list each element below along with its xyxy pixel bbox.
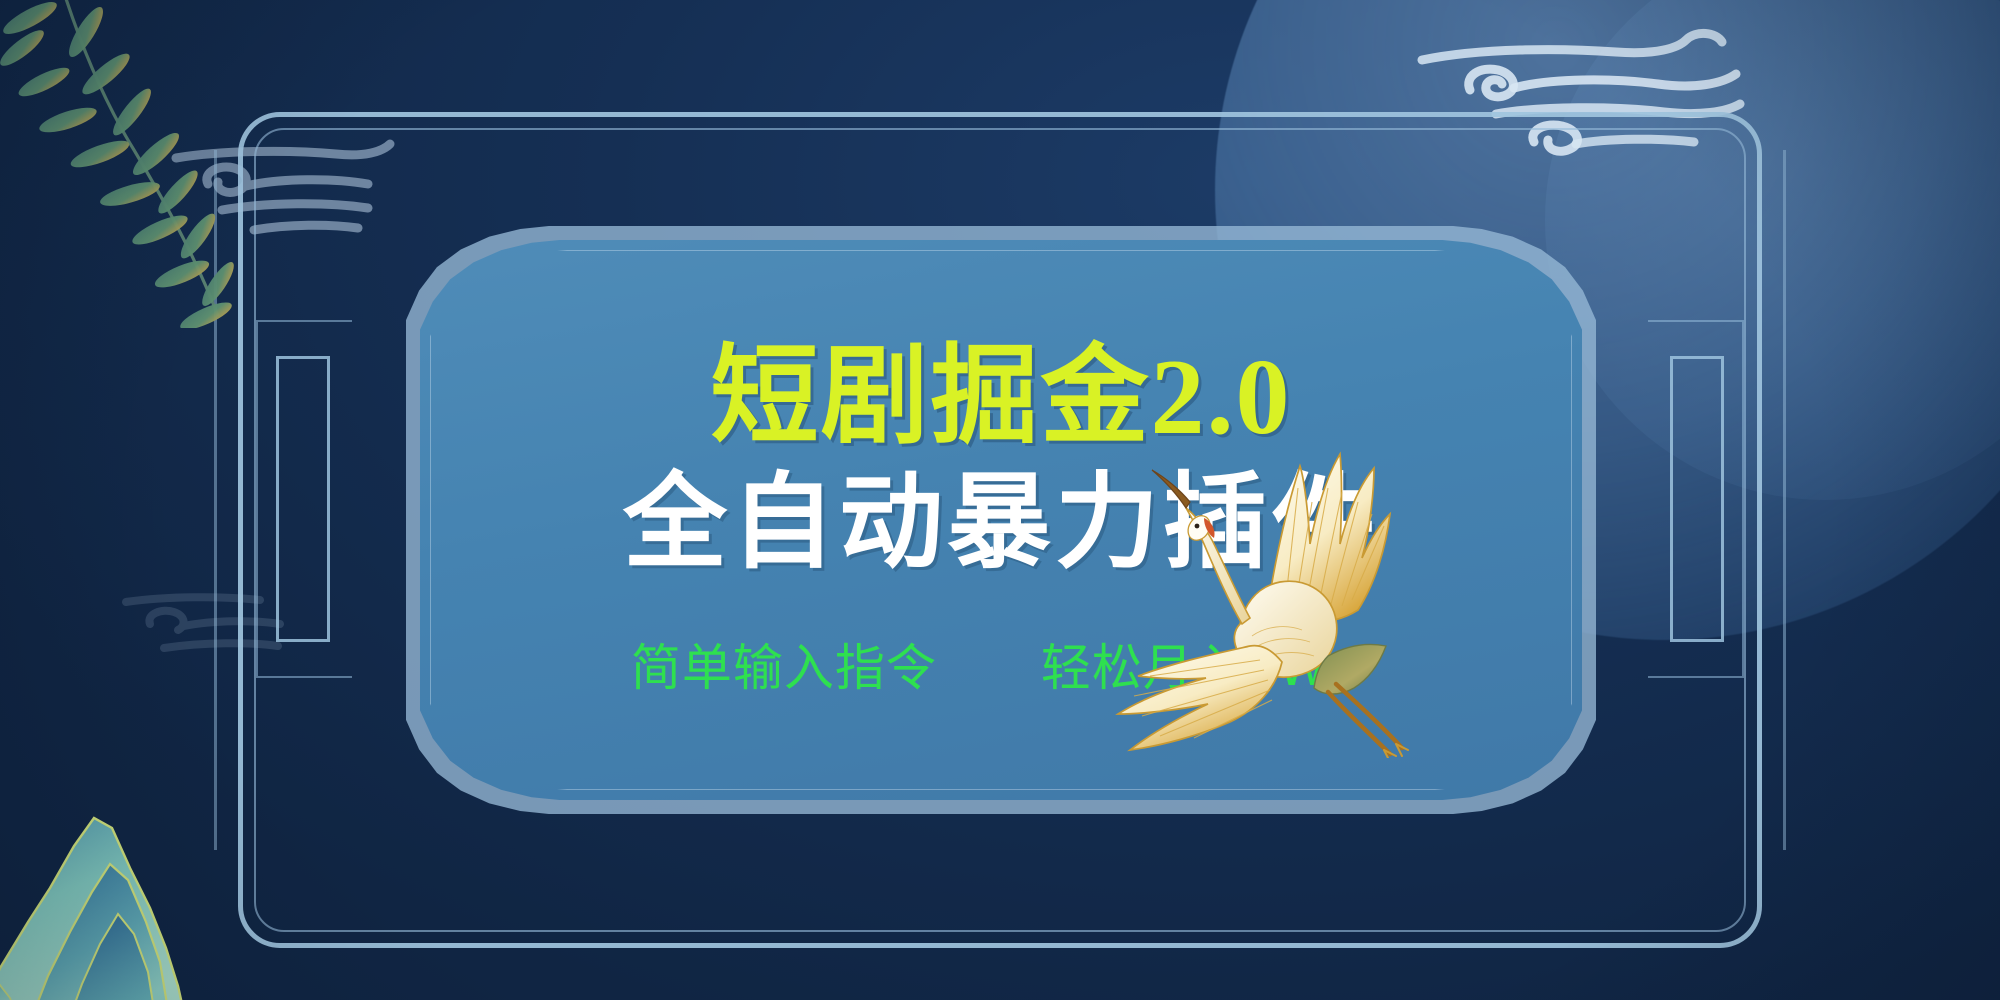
tagline-row: 简单输入指令 轻松月入3W+ — [631, 628, 1371, 700]
page-title: 短剧掘金2.0 — [710, 340, 1291, 457]
tagline-left: 简单输入指令 — [631, 628, 937, 700]
page-subtitle: 全自动暴力插件 — [623, 467, 1379, 581]
headline-block: 短剧掘金2.0 全自动暴力插件 简单输入指令 轻松月入3W+ — [420, 240, 1582, 800]
tagline-right: 轻松月入3W+ — [1041, 628, 1371, 700]
promo-poster: 短剧掘金2.0 全自动暴力插件 简单输入指令 轻松月入3W+ — [0, 0, 2000, 1000]
